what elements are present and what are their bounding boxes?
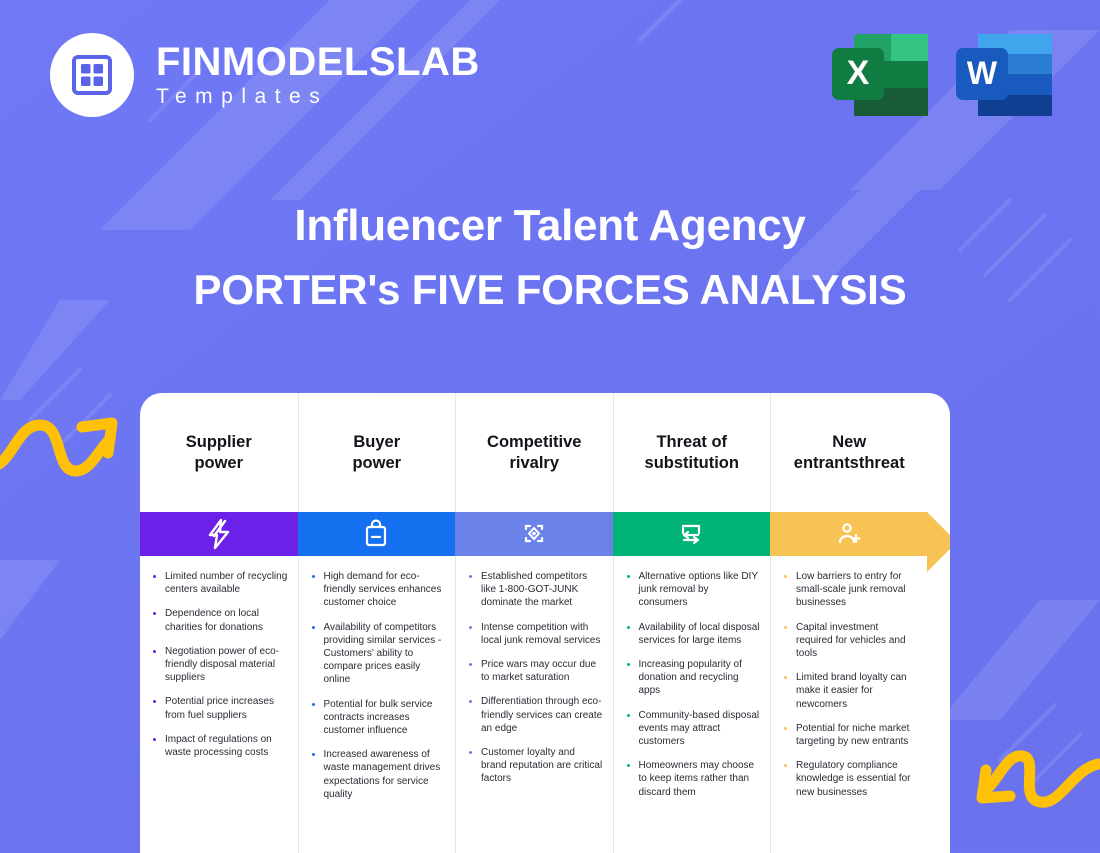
column-title-line2: power (194, 454, 243, 472)
column-title-line2: power (352, 454, 401, 472)
list-item: Availability of competitors providing si… (311, 621, 446, 687)
bullet-list: Limited number of recycling centers avai… (152, 570, 288, 759)
column-header: Supplier power (140, 393, 298, 512)
column-title-line2: substitution (645, 454, 739, 472)
column-header: New entrantsthreat (770, 393, 928, 512)
column-title-line1: Buyer (353, 433, 400, 451)
list-item: Established competitors like 1-800-GOT-J… (468, 570, 603, 610)
list-item: Potential price increases from fuel supp… (152, 695, 288, 721)
list-item: High demand for eco-friendly services en… (311, 570, 446, 610)
focus-target-icon (520, 519, 548, 549)
add-user-icon (836, 519, 862, 549)
column-accent-bar (613, 512, 771, 556)
column-header: Buyer power (298, 393, 456, 512)
column-title-line1: Threat of (656, 433, 727, 451)
list-item: Increased awareness of waste management … (311, 748, 446, 801)
list-item: Price wars may occur due to market satur… (468, 658, 603, 684)
exchange-arrows-icon (677, 519, 705, 549)
column-accent-bar (455, 512, 613, 556)
word-icon: W (956, 30, 1052, 118)
page-subtitle: PORTER's FIVE FORCES ANALYSIS (0, 257, 1100, 323)
force-column-threat-of-substitution: Threat of substitution Alternative optio… (613, 393, 771, 853)
list-item: Differentiation through eco-friendly ser… (468, 695, 603, 735)
force-columns: Supplier power Limited number of recycli… (140, 393, 950, 853)
list-item: Limited brand loyalty can make it easier… (783, 671, 918, 711)
column-body: Low barriers to entry for small-scale ju… (770, 556, 928, 853)
office-format-icons: X W (832, 30, 1052, 118)
list-item: Low barriers to entry for small-scale ju… (783, 570, 918, 610)
force-column-competitive-rivalry: Competitive rivalry Established competit… (455, 393, 613, 853)
column-title-line1: Competitive (487, 433, 581, 451)
bullet-list: Low barriers to entry for small-scale ju… (783, 570, 918, 799)
porters-five-forces-card: Supplier power Limited number of recycli… (140, 393, 950, 853)
force-column-new-entrants-threat: New entrantsthreat Low barriers to entry… (770, 393, 928, 853)
force-column-supplier-power: Supplier power Limited number of recycli… (140, 393, 298, 853)
column-header: Competitive rivalry (455, 393, 613, 512)
bullet-list: Established competitors like 1-800-GOT-J… (468, 570, 603, 786)
list-item: Increasing popularity of donation and re… (626, 658, 761, 698)
page-header: FINMODELSLAB Templates X W (0, 0, 1100, 150)
column-accent-bar (298, 512, 456, 556)
column-body: Established competitors like 1-800-GOT-J… (455, 556, 613, 853)
list-item: Potential for bulk service contracts inc… (311, 698, 446, 738)
list-item: Availability of local disposal services … (626, 621, 761, 647)
excel-icon: X (832, 30, 928, 118)
list-item: Customer loyalty and brand reputation ar… (468, 746, 603, 786)
bullet-list: Alternative options like DIY junk remova… (626, 570, 761, 799)
squiggle-arrow-down-left-icon (960, 740, 1100, 835)
squiggle-arrow-up-right-icon (0, 405, 129, 485)
list-item: Potential for niche market targeting by … (783, 722, 918, 748)
page-title: Influencer Talent Agency (0, 195, 1100, 257)
list-item: Alternative options like DIY junk remova… (626, 570, 761, 610)
column-title-line2: rivalry (509, 454, 559, 472)
list-item: Negotiation power of eco-friendly dispos… (152, 645, 288, 685)
column-body: Alternative options like DIY junk remova… (613, 556, 771, 853)
brand-subtitle: Templates (156, 84, 480, 110)
brand-name: FINMODELSLAB (156, 40, 480, 84)
column-title-line1: Supplier (186, 433, 252, 451)
svg-text:W: W (967, 55, 998, 91)
list-item: Limited number of recycling centers avai… (152, 570, 288, 596)
column-header: Threat of substitution (613, 393, 771, 512)
column-body: High demand for eco-friendly services en… (298, 556, 456, 853)
svg-text:X: X (847, 54, 870, 92)
list-item: Homeowners may choose to keep items rath… (626, 759, 761, 799)
title-block: Influencer Talent Agency PORTER's FIVE F… (0, 195, 1100, 323)
grid-squares-icon (50, 33, 134, 117)
column-accent-bar (140, 512, 298, 556)
list-item: Regulatory compliance knowledge is essen… (783, 759, 918, 799)
column-body: Limited number of recycling centers avai… (140, 556, 298, 853)
arrow-tip (927, 512, 950, 572)
column-title-line1: New (832, 433, 866, 451)
column-accent-bar (770, 512, 928, 556)
column-title-line2: entrantsthreat (794, 454, 905, 472)
list-item: Impact of regulations on waste processin… (152, 733, 288, 759)
lightning-bolt-icon (206, 519, 232, 549)
brand-logo: FINMODELSLAB Templates (50, 33, 480, 117)
list-item: Dependence on local charities for donati… (152, 607, 288, 633)
list-item: Community-based disposal events may attr… (626, 709, 761, 749)
list-item: Capital investment required for vehicles… (783, 621, 918, 661)
force-column-buyer-power: Buyer power High demand for eco-friendly… (298, 393, 456, 853)
shopping-bag-icon (363, 519, 389, 549)
bullet-list: High demand for eco-friendly services en… (311, 570, 446, 801)
list-item: Intense competition with local junk remo… (468, 621, 603, 647)
